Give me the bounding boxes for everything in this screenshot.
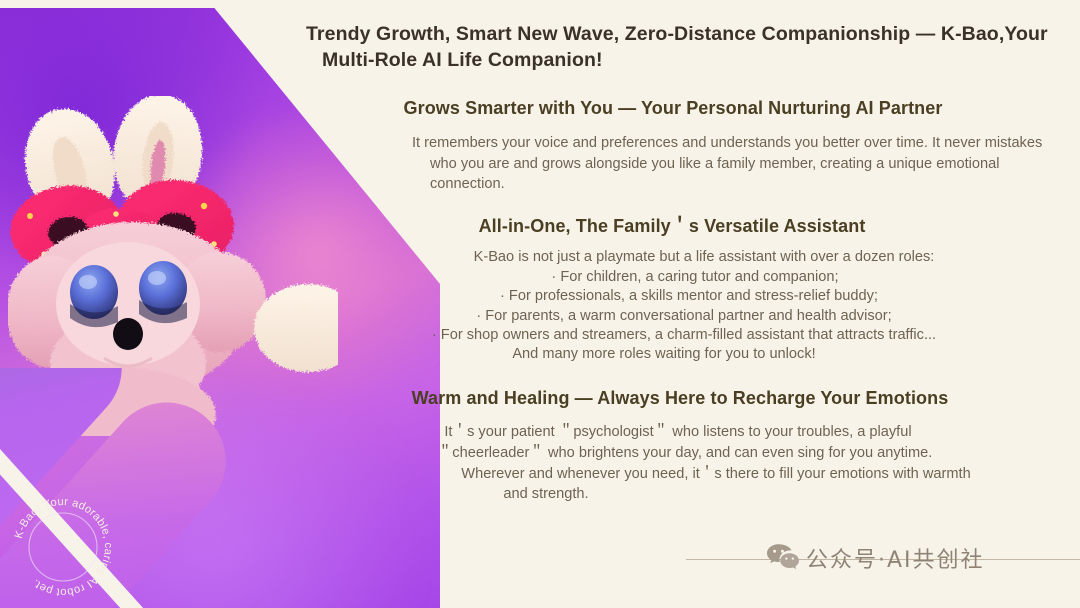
wechat-icon — [766, 543, 800, 573]
mascot-nose — [113, 318, 143, 350]
page-title-line1: Trendy Growth, Smart New Wave, Zero-Dist… — [306, 23, 1048, 45]
badge-text: K-Bao! Your adorable, caring AI robot pe… — [13, 496, 114, 598]
section-all-in-one: All-in-One, The Family＇s Versatile Assis… — [300, 215, 1068, 365]
robot-pet-mascot — [8, 96, 338, 436]
badge-inner-ring — [29, 513, 97, 581]
wechat-bubble-small — [780, 553, 799, 569]
section-3-body-line4: and strength. — [324, 484, 1068, 505]
role-item-shop-owners: · For shop owners and streamers, a charm… — [300, 326, 1068, 345]
section-1-body-line1: It remembers your voice and preferences … — [412, 133, 1052, 154]
section-1-heading: Grows Smarter with You — Your Personal N… — [300, 97, 1068, 120]
role-list-intro: K-Bao is not just a playmate but a life … — [300, 248, 1068, 267]
section-3-body: It＇s your patient ＂psychologist＂ who lis… — [300, 422, 1068, 505]
section-1-body-line2: who you are and grows alongside you like… — [412, 154, 1052, 175]
section-2-heading: All-in-One, The Family＇s Versatile Assis… — [300, 215, 1068, 238]
footer-account-name: 公众号·AI共创社 — [806, 542, 985, 574]
role-item-children: · For children, a caring tutor and compa… — [300, 268, 1068, 287]
poster-canvas: K-Bao! Your adorable, caring AI robot pe… — [0, 0, 1080, 608]
footer-attribution: 公众号·AI共创社 — [686, 538, 1080, 578]
section-3-heading: Warm and Healing — Always Here to Rechar… — [300, 387, 1068, 410]
role-item-parents: · For parents, a warm conversational par… — [300, 307, 1068, 326]
section-1-body-line3: connection. — [412, 174, 1052, 195]
section-3-body-line3: Wherever and whenever you need, it＇s the… — [324, 464, 1068, 485]
role-list-outro: And many more roles waiting for you to u… — [300, 345, 1068, 364]
section-3-body-line1: It＇s your patient ＂psychologist＂ who lis… — [324, 422, 1068, 443]
section-grows-smarter: Grows Smarter with You — Your Personal N… — [300, 97, 1068, 195]
section-1-body: It remembers your voice and preferences … — [300, 133, 1068, 195]
content-column: Trendy Growth, Smart New Wave, Zero-Dist… — [300, 22, 1068, 505]
page-title: Trendy Growth, Smart New Wave, Zero-Dist… — [306, 22, 1058, 73]
role-item-professionals: · For professionals, a skills mentor and… — [300, 287, 1068, 306]
section-3-body-line2: ＂cheerleader＂ who brightens your day, an… — [324, 443, 1068, 464]
section-warm-and-healing: Warm and Healing — Always Here to Rechar… — [300, 387, 1068, 505]
section-2-role-list: K-Bao is not just a playmate but a life … — [300, 248, 1068, 364]
circular-badge: K-Bao! Your adorable, caring AI robot pe… — [4, 488, 122, 606]
page-title-line2: Multi-Role AI Life Companion! — [306, 48, 1058, 74]
